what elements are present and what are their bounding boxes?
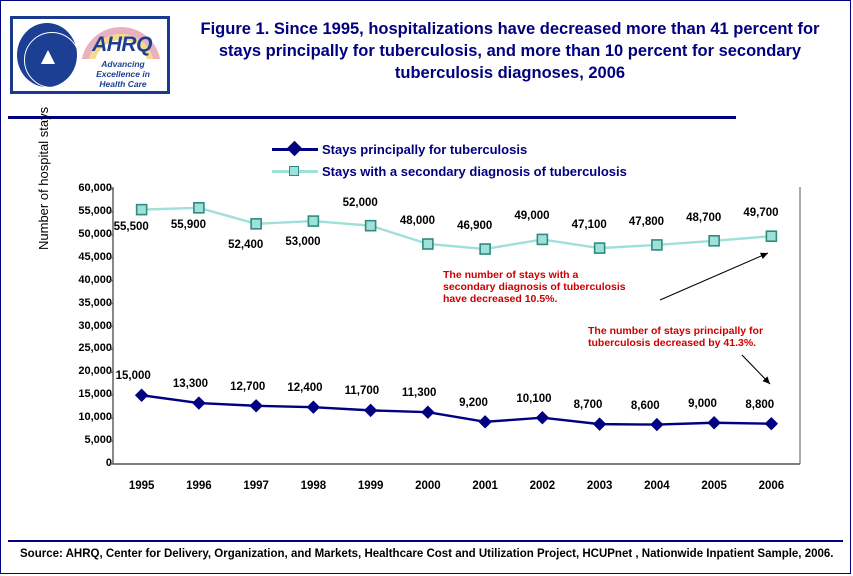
- annotation-secondary-line1: The number of stays with a: [443, 269, 626, 281]
- y-tick-label: 50,000: [56, 228, 112, 240]
- data-label-secondary: 46,900: [457, 220, 492, 232]
- annotation-secondary-line3: have decreased 10.5%.: [443, 293, 626, 305]
- annotation-principal-line1: The number of stays principally for: [588, 325, 763, 337]
- x-tick-label: 2001: [455, 480, 515, 492]
- y-tick-label: 35,000: [56, 297, 112, 309]
- y-tick-label: 30,000: [56, 320, 112, 332]
- y-tick-label: 25,000: [56, 342, 112, 354]
- data-label-secondary: 55,500: [114, 221, 149, 233]
- y-tick-label: 45,000: [56, 251, 112, 263]
- data-label-principal: 9,200: [459, 397, 488, 409]
- data-label-secondary: 48,000: [400, 215, 435, 227]
- data-label-secondary: 47,800: [629, 216, 664, 228]
- data-label-principal: 9,000: [688, 398, 717, 410]
- y-tick-label: 60,000: [56, 182, 112, 194]
- source-note: Source: AHRQ, Center for Delivery, Organ…: [20, 548, 833, 560]
- y-axis-ticks: 05,00010,00015,00020,00025,00030,00035,0…: [56, 0, 112, 576]
- chart-area: Number of hospital stays 05,00010,00015,…: [0, 0, 853, 576]
- x-tick-label: 1998: [283, 480, 343, 492]
- y-tick-label: 0: [56, 457, 112, 469]
- data-label-principal: 8,800: [745, 399, 774, 411]
- data-label-principal: 8,700: [574, 399, 603, 411]
- y-tick-label: 15,000: [56, 388, 112, 400]
- x-tick-label: 1995: [112, 480, 172, 492]
- data-label-secondary: 52,400: [228, 239, 263, 251]
- data-label-secondary: 47,100: [572, 219, 607, 231]
- x-tick-label: 2004: [627, 480, 687, 492]
- data-label-principal: 12,700: [230, 381, 265, 393]
- data-label-secondary: 49,000: [514, 210, 549, 222]
- x-tick-label: 2005: [684, 480, 744, 492]
- x-tick-label: 2003: [570, 480, 630, 492]
- annotation-principal-line2: tuberculosis decreased by 41.3%.: [588, 337, 763, 349]
- footer-divider: [8, 540, 843, 542]
- annotation-secondary-line2: secondary diagnosis of tuberculosis: [443, 281, 626, 293]
- annotation-secondary-note: The number of stays with a secondary dia…: [443, 269, 626, 305]
- data-label-principal: 13,300: [173, 378, 208, 390]
- y-tick-label: 40,000: [56, 274, 112, 286]
- data-label-secondary: 53,000: [285, 236, 320, 248]
- y-tick-label: 55,000: [56, 205, 112, 217]
- x-tick-label: 1997: [226, 480, 286, 492]
- data-label-principal: 8,600: [631, 400, 660, 412]
- data-label-secondary: 49,700: [743, 207, 778, 219]
- data-label-principal: 12,400: [287, 382, 322, 394]
- y-tick-label: 5,000: [56, 434, 112, 446]
- data-label-secondary: 48,700: [686, 212, 721, 224]
- data-label-secondary: 55,900: [171, 219, 206, 231]
- annotation-principal-note: The number of stays principally for tube…: [588, 325, 763, 349]
- x-tick-label: 2002: [512, 480, 572, 492]
- y-tick-label: 20,000: [56, 365, 112, 377]
- y-tick-label: 10,000: [56, 411, 112, 423]
- data-label-principal: 10,100: [516, 393, 551, 405]
- x-tick-label: 2000: [398, 480, 458, 492]
- x-tick-label: 1999: [341, 480, 401, 492]
- data-label-secondary: 52,000: [343, 197, 378, 209]
- data-label-principal: 11,300: [402, 387, 437, 399]
- data-label-principal: 15,000: [116, 370, 151, 382]
- data-label-principal: 11,700: [345, 385, 380, 397]
- y-axis-title: Number of hospital stays: [36, 107, 51, 250]
- x-tick-label: 2006: [741, 480, 801, 492]
- x-tick-label: 1996: [169, 480, 229, 492]
